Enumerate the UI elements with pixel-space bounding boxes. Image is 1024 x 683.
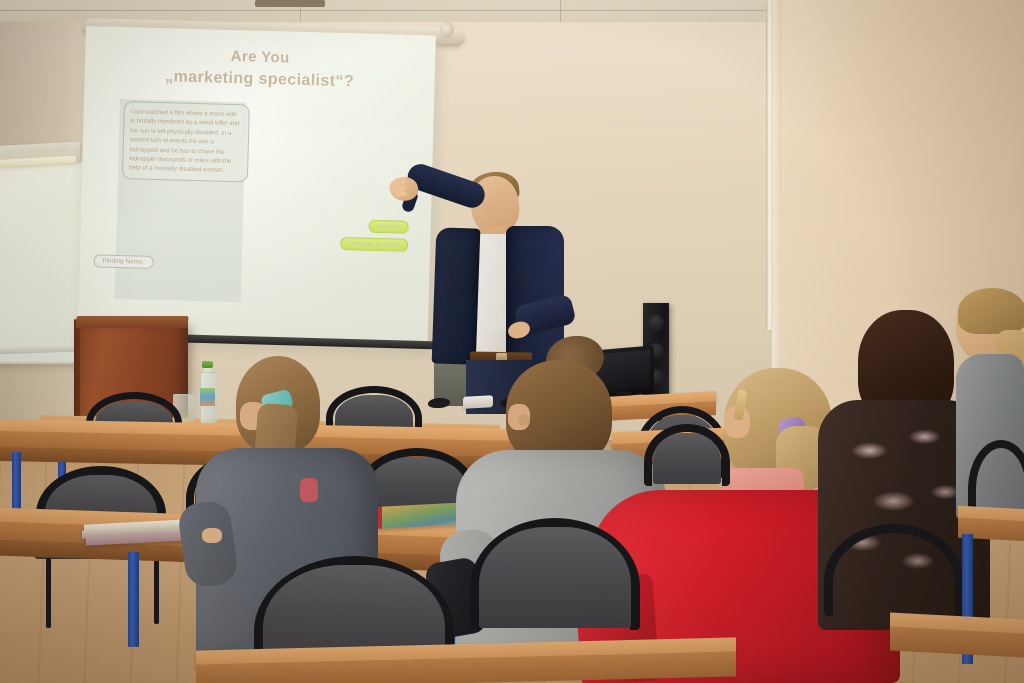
chair — [824, 524, 964, 616]
water-bottle-cap — [202, 361, 213, 368]
projection-screen: Are You „marketing specialist“? I just w… — [78, 26, 436, 345]
presenter-jacket-left — [432, 227, 481, 364]
presenter-ear — [486, 205, 495, 217]
chat-bubble-incoming-2: Finding Nemo. — [93, 254, 153, 269]
podium-top — [75, 316, 188, 328]
chair — [470, 518, 640, 630]
presentation-remote — [463, 395, 493, 409]
collar-detail — [300, 478, 318, 502]
desk-leg — [128, 552, 139, 647]
attendee-hair — [958, 288, 1024, 334]
classroom-photo: Are You „marketing specialist“? I just w… — [0, 0, 1024, 683]
chair — [644, 424, 730, 486]
desk-leg — [12, 452, 21, 512]
chat-bubble-outgoing-2: what was it called? — [340, 237, 408, 252]
water-bottle-label — [200, 388, 215, 406]
whiteboard-surface — [0, 164, 84, 350]
chat-bubble-outgoing-1: uhhhhhh — [368, 220, 408, 234]
chat-bubble-incoming: I just watched a film where a mans wife … — [122, 101, 250, 182]
student-earring — [518, 414, 530, 426]
wall-conduit-pipe — [766, 0, 773, 330]
student-hand — [202, 528, 222, 543]
